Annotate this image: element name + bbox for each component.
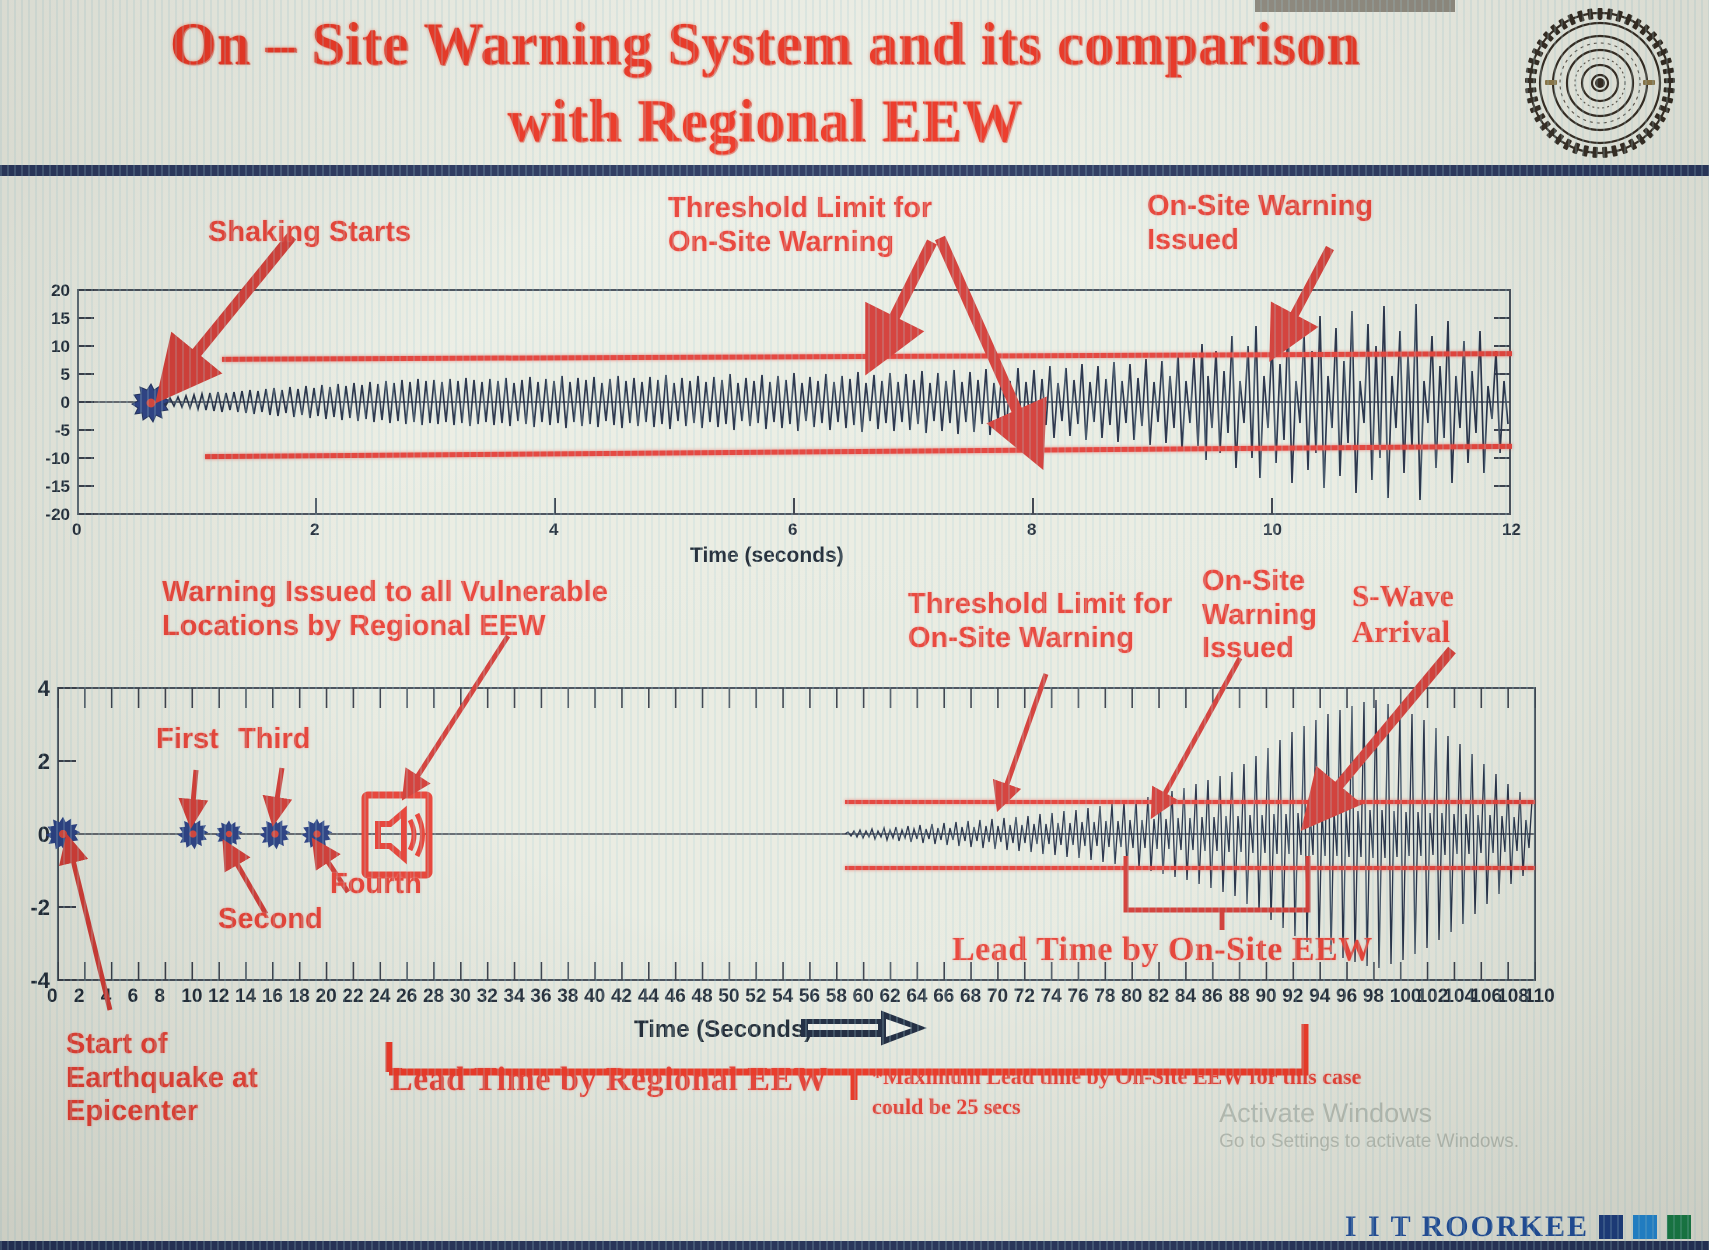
brand-swatch-green bbox=[1667, 1215, 1691, 1239]
footer-brand: I I T ROORKEE bbox=[1345, 1210, 1691, 1244]
first-label: First bbox=[156, 723, 219, 757]
shaking-starts-label: Shaking Starts bbox=[208, 216, 411, 250]
footer-brand-text: I I T ROORKEE bbox=[1345, 1210, 1589, 1244]
brand-swatch-navy bbox=[1599, 1215, 1623, 1239]
third-arrow bbox=[275, 768, 282, 812]
s-wave-arrival-label: S-Wave Arrival bbox=[1352, 578, 1454, 650]
top-threshold-limit-label: Threshold Limit for On-Site Warning bbox=[668, 192, 932, 259]
third-label: Third bbox=[238, 723, 311, 757]
page-title: On – Site Warning System and its compari… bbox=[150, 6, 1380, 160]
second-label: Second bbox=[218, 903, 323, 937]
first-arrow bbox=[192, 770, 196, 814]
top-on-site-warning-issued-label: On-Site Warning Issued bbox=[1147, 190, 1373, 257]
top-warning-issued-arrow bbox=[1282, 248, 1330, 338]
bottom-threshold-arrow bbox=[1002, 674, 1046, 798]
bottom-on-site-warning-label: On-Site Warning Issued bbox=[1202, 565, 1317, 666]
slide-root: On – Site Warning System and its compari… bbox=[0, 0, 1709, 1250]
lead-time-on-site-label: Lead Time by On-Site EEW bbox=[952, 930, 1373, 969]
s-wave-arrival-arrow bbox=[1320, 650, 1452, 808]
iit-roorkee-seal-logo bbox=[1525, 8, 1675, 158]
bottom-warning-issued-arrow bbox=[1158, 658, 1240, 806]
brand-swatch-blue bbox=[1633, 1215, 1657, 1239]
fourth-label: Fourth bbox=[330, 868, 422, 902]
watermark-line-1: Activate Windows bbox=[1219, 1097, 1519, 1131]
lead-time-regional-bracket bbox=[389, 1024, 1305, 1100]
slide-title-bar: On – Site Warning System and its compari… bbox=[0, 0, 1709, 176]
regional-eew-warning-arrow bbox=[410, 636, 508, 788]
lead-time-on-site-bracket bbox=[1126, 856, 1308, 930]
start-of-earthquake-arrow bbox=[70, 848, 110, 1010]
watermark-line-2: Go to Settings to activate Windows. bbox=[1219, 1130, 1519, 1154]
regional-warning-issued-label: Warning Issued to all Vulnerable Locatio… bbox=[162, 576, 608, 643]
windows-activation-watermark: Activate Windows Go to Settings to activ… bbox=[1219, 1097, 1519, 1155]
bottom-threshold-limit-label: Threshold Limit for On-Site Warning bbox=[908, 588, 1172, 655]
top-threshold-arrow-2 bbox=[940, 238, 1030, 440]
shaking-starts-arrow bbox=[176, 236, 292, 378]
bottom-edge-strip bbox=[0, 1241, 1709, 1250]
